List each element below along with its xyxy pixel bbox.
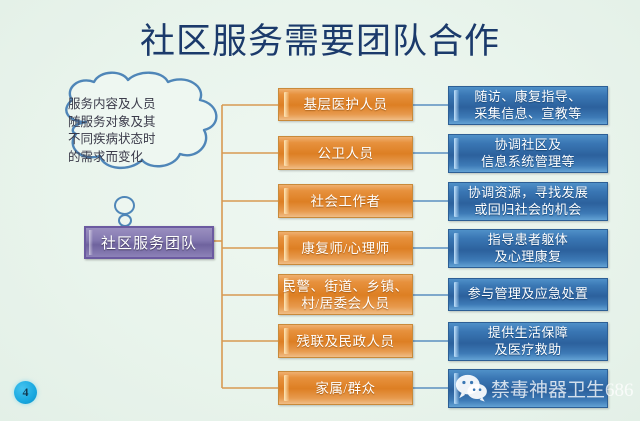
- task-node-label: 提供生活保障 及医疗救助: [488, 325, 568, 358]
- task-node-2[interactable]: 协调社区及 信息系统管理等: [448, 134, 608, 173]
- task-node-label: 协调社区及 信息系统管理等: [481, 137, 575, 170]
- role-node-2[interactable]: 公卫人员: [278, 136, 413, 170]
- role-node-7[interactable]: 家属/群众: [278, 371, 413, 405]
- root-node-label: 社区服务团队: [101, 232, 197, 253]
- role-node-6[interactable]: 残联及民政人员: [278, 324, 413, 358]
- root-node-community-service-team[interactable]: 社区服务团队: [84, 226, 214, 259]
- slide-canvas: 社区服务需要团队合作: [0, 0, 640, 421]
- role-node-label: 民警、街道、乡镇、 村/居委会人员: [283, 278, 409, 312]
- slide-number-badge: 4: [14, 381, 37, 404]
- role-node-label: 家属/群众: [315, 380, 375, 397]
- task-node-4[interactable]: 指导患者躯体 及心理康复: [448, 229, 608, 268]
- cloud-line-2: 随服务对象及其: [68, 114, 216, 132]
- cloud-line-1: 服务内容及人员: [68, 96, 216, 114]
- task-node-label: 协调资源，寻找发展 或回归社会的机会: [468, 185, 589, 218]
- role-node-3[interactable]: 社会工作者: [278, 184, 413, 218]
- task-node-6[interactable]: 提供生活保障 及医疗救助: [448, 322, 608, 361]
- role-node-label: 社会工作者: [311, 193, 381, 210]
- wechat-icon: [455, 373, 489, 403]
- task-node-5[interactable]: 参与管理及应急处置: [448, 278, 608, 311]
- role-node-label: 残联及民政人员: [297, 333, 395, 350]
- thought-cloud-text: 服务内容及人员 随服务对象及其 不同疾病状态时 的需求而变化: [68, 96, 216, 166]
- role-node-label: 公卫人员: [318, 145, 374, 162]
- task-node-3[interactable]: 协调资源，寻找发展 或回归社会的机会: [448, 182, 608, 221]
- task-node-1[interactable]: 随访、康复指导、 采集信息、宣教等: [448, 86, 608, 125]
- task-node-label: 随访、康复指导、 采集信息、宣教等: [474, 89, 581, 122]
- thought-bubble-large-icon: [114, 196, 135, 215]
- task-node-label: 参与管理及应急处置: [468, 286, 589, 303]
- cloud-line-4: 的需求而变化: [68, 149, 216, 167]
- watermark-text: 禁毒神器卫生686: [491, 375, 634, 402]
- cloud-line-3: 不同疾病状态时: [68, 131, 216, 149]
- role-node-4[interactable]: 康复师/心理师: [278, 231, 413, 265]
- page-title: 社区服务需要团队合作: [0, 20, 640, 64]
- watermark: 禁毒神器卫生686: [455, 368, 635, 408]
- role-node-label: 康复师/心理师: [301, 240, 389, 257]
- thought-cloud: 服务内容及人员 随服务对象及其 不同疾病状态时 的需求而变化: [46, 70, 236, 195]
- slide-number-value: 4: [23, 385, 29, 400]
- role-node-label: 基层医护人员: [304, 96, 388, 113]
- task-node-label: 指导患者躯体 及心理康复: [488, 232, 568, 265]
- role-node-5[interactable]: 民警、街道、乡镇、 村/居委会人员: [278, 274, 413, 315]
- role-node-1[interactable]: 基层医护人员: [278, 88, 413, 121]
